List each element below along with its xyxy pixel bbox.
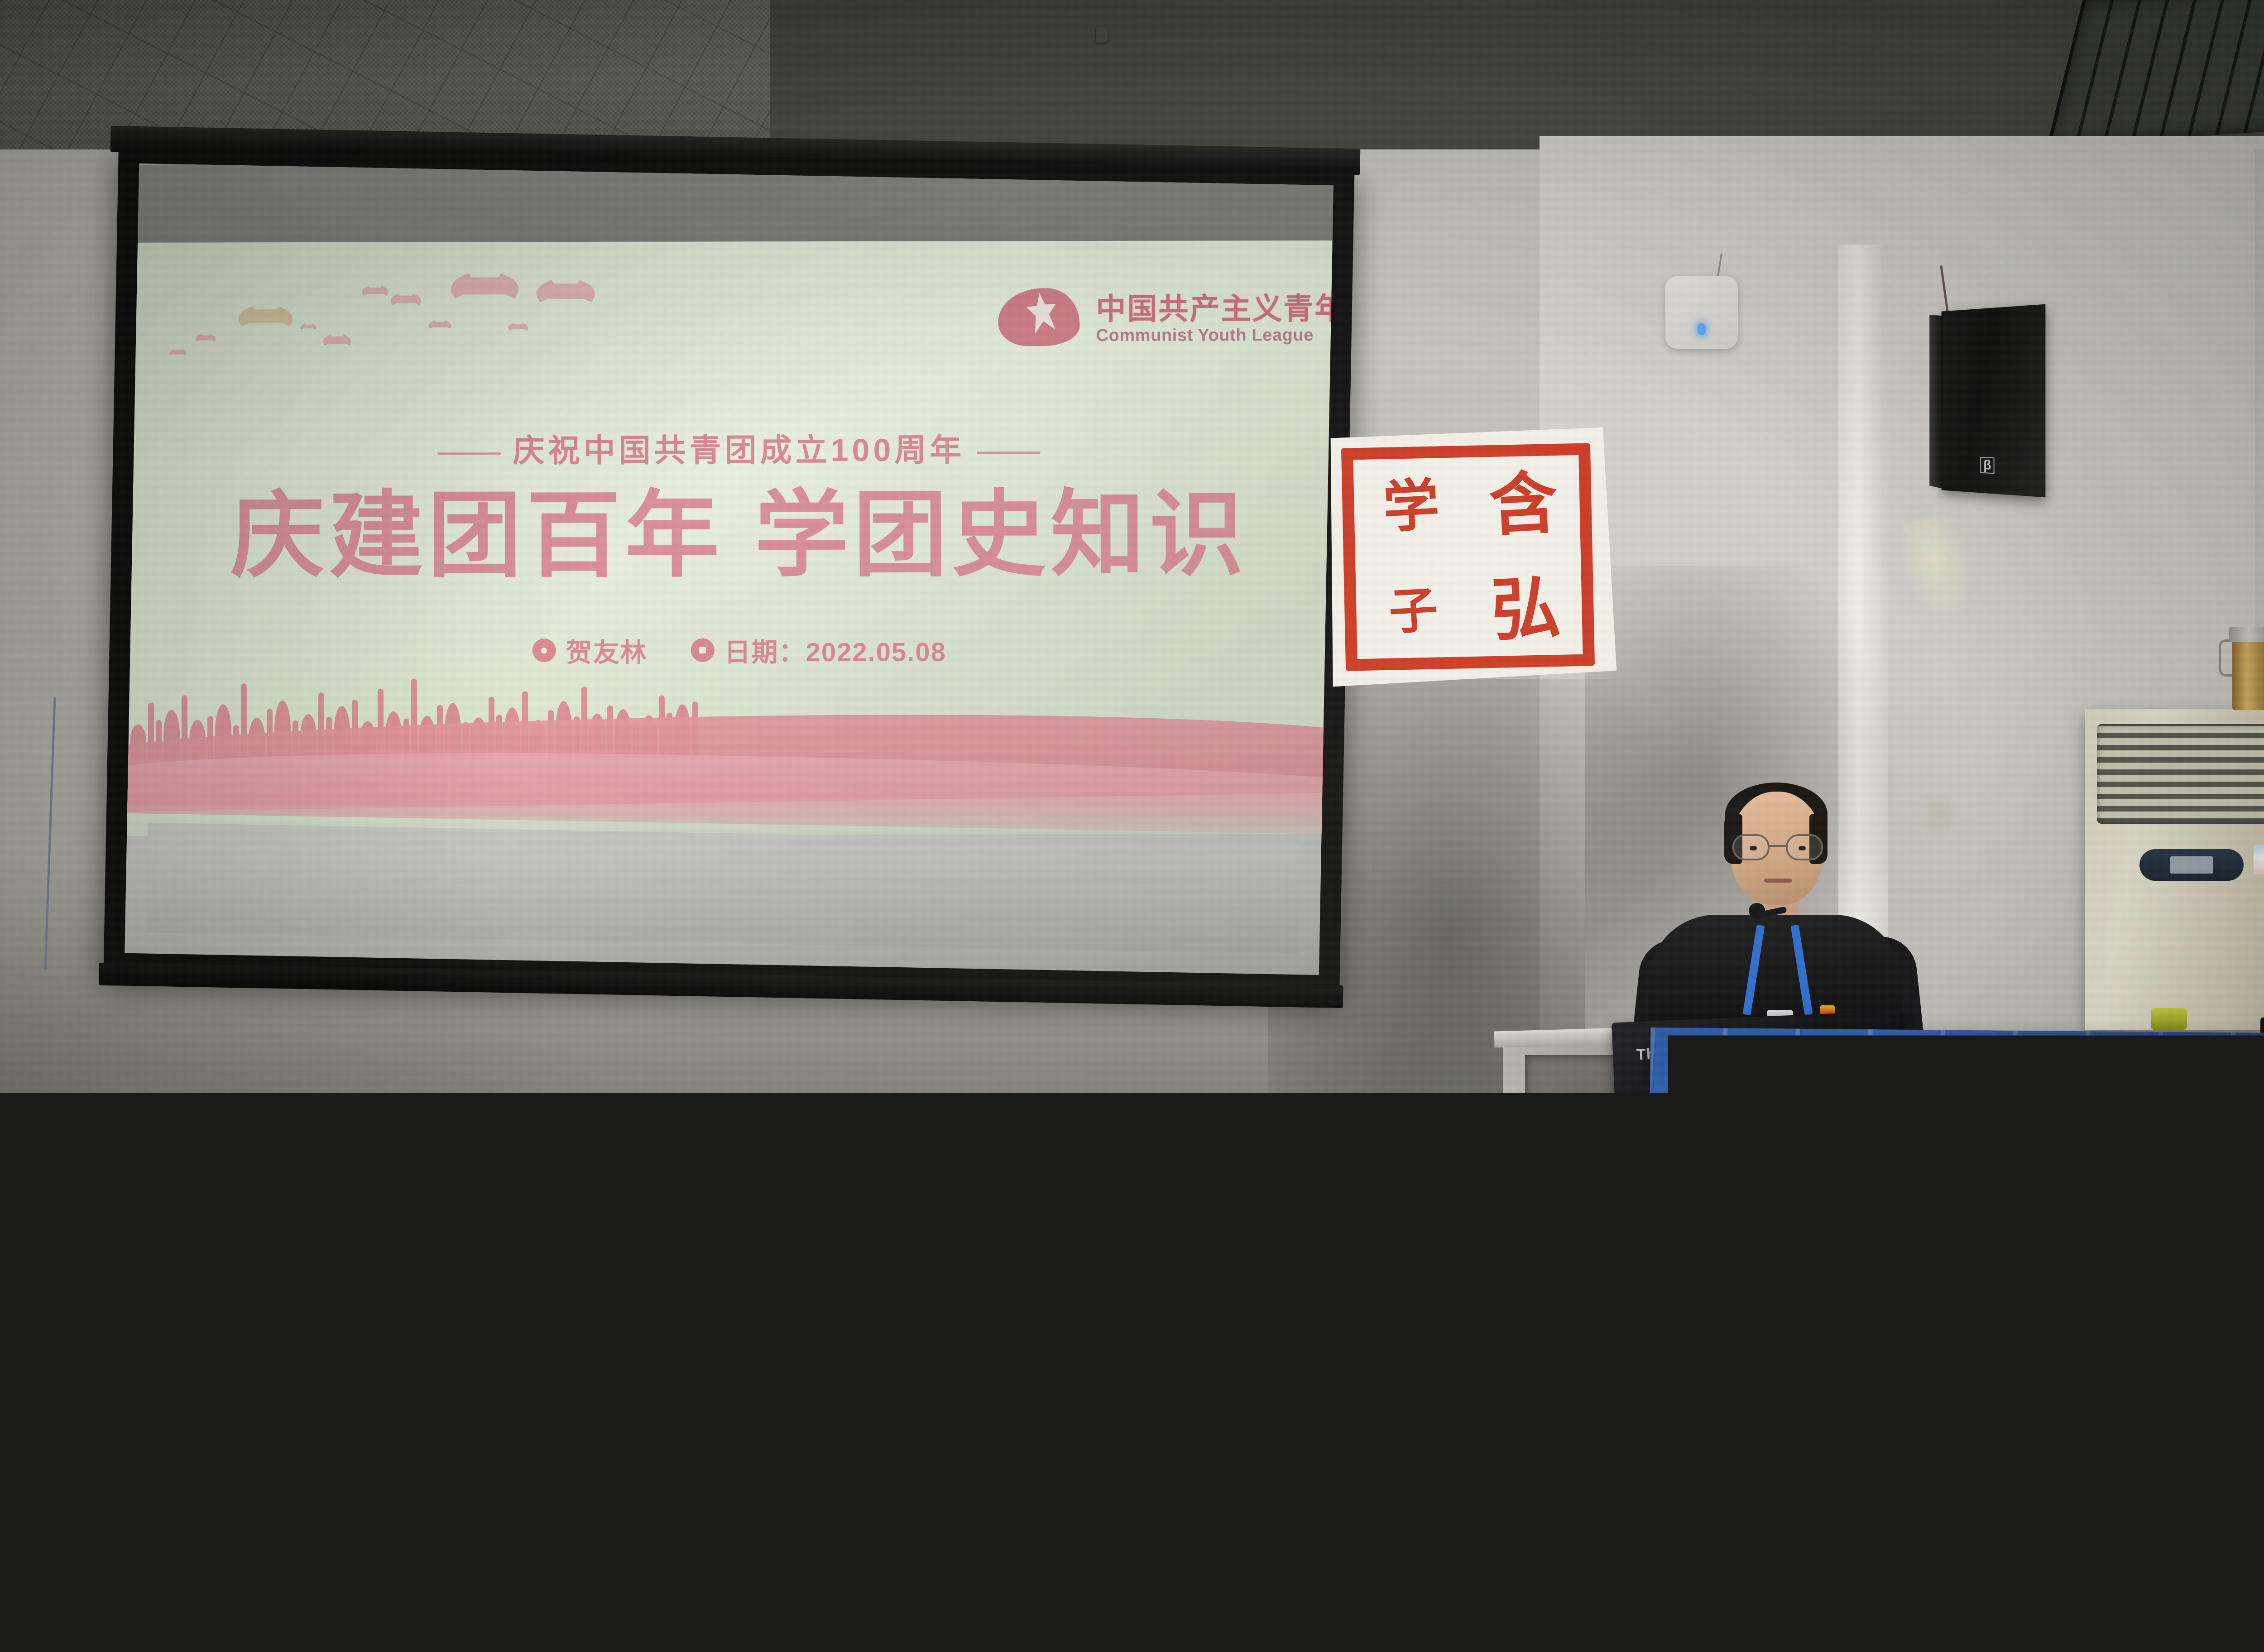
ac-display: [2170, 856, 2213, 874]
wifi-access-point-icon: [1665, 276, 1738, 349]
photo-scene: 中国共产主义青年团 Communist Youth League ——庆祝中国共…: [0, 0, 2264, 1652]
glasses-lens-left: [1732, 834, 1770, 860]
wall-scuff-mark: [1918, 788, 1958, 842]
slide-subtitle: ——庆祝中国共青团成立100周年——: [125, 424, 1333, 472]
thermos-cap[interactable]: [2229, 627, 2264, 642]
bird-icon: [173, 351, 183, 355]
cyl-emblem-icon: [998, 281, 1084, 358]
banner-shading: [1646, 1028, 2264, 1594]
presentation-slide: 中国共产主义青年团 Communist Youth League ——庆祝中国共…: [125, 240, 1333, 836]
speaker-brand-logo: β: [1981, 457, 1995, 474]
wall-speaker: β: [1942, 304, 2046, 498]
seal-char-2: 含: [1487, 468, 1559, 540]
bird-icon: [304, 325, 313, 328]
glasses-icon: [1732, 834, 1823, 860]
outlet-plug[interactable]: [365, 1311, 380, 1332]
wall-outlet-secondary[interactable]: [1377, 1223, 1411, 1251]
bird-icon: [249, 309, 281, 323]
glasses-bridge: [1770, 845, 1786, 847]
seal-char-1: 学: [1381, 477, 1441, 536]
speaker-side-panel: [1929, 315, 1943, 489]
bird-icon: [397, 296, 415, 303]
slide-title: 庆建团百年 学团史知识: [125, 485, 1333, 586]
lectern-switch[interactable]: [1556, 1118, 1584, 1126]
seal-char-3: 子: [1388, 585, 1439, 637]
tape-roll[interactable]: [2151, 1008, 2187, 1030]
eye-right: [1799, 846, 1806, 850]
bird-icon: [433, 322, 446, 327]
screen-surface: 中国共产主义青年团 Communist Youth League ——庆祝中国共…: [125, 163, 1333, 975]
ac-control-panel[interactable]: [2139, 849, 2244, 881]
thermos-handle: [2219, 639, 2232, 677]
status-led: [1698, 323, 1706, 335]
sprinkler-head-icon: [1096, 27, 1108, 43]
seal-characters: 学 含 子 弘: [1354, 451, 1583, 664]
subtitle-dash-right: ——: [965, 432, 1052, 467]
cyl-logo-text: 中国共产主义青年团 Communist Youth League: [1096, 293, 1333, 345]
cyl-name-en: Communist Youth League: [1096, 327, 1333, 345]
subtitle-text: 庆祝中国共青团成立100周年: [513, 432, 965, 469]
bird-icon: [367, 288, 383, 294]
wall-seal-plaque: 学 含 子 弘: [1322, 427, 1617, 687]
cyl-name-cn: 中国共产主义青年团: [1096, 293, 1333, 325]
bird-icon: [200, 335, 212, 340]
ceiling-light-fixture-icon: [2047, 0, 2264, 147]
bird-icon: [465, 277, 504, 294]
bird-icon: [512, 324, 524, 329]
cyl-logo: 中国共产主义青年团 Communist Youth League: [998, 280, 1333, 358]
subtitle-dash-left: ——: [426, 433, 513, 468]
mouth: [1764, 879, 1792, 883]
table-banner: 西南大学计算机与信息科学学院 COLLEGE OF COMPUTER AND I…: [1646, 1028, 2264, 1594]
side-table[interactable]: [2246, 1454, 2264, 1652]
seal-char-4: 弘: [1489, 572, 1562, 645]
ac-air-grille: [2097, 724, 2264, 824]
eye-left: [1750, 846, 1757, 850]
air-conditioner[interactable]: [2085, 709, 2264, 1030]
bird-icon: [329, 336, 345, 344]
thermos-flask[interactable]: [2232, 638, 2264, 710]
glasses-lens-right: [1786, 834, 1823, 860]
bird-icon: [548, 283, 583, 299]
ac-energy-label: [2254, 845, 2264, 874]
